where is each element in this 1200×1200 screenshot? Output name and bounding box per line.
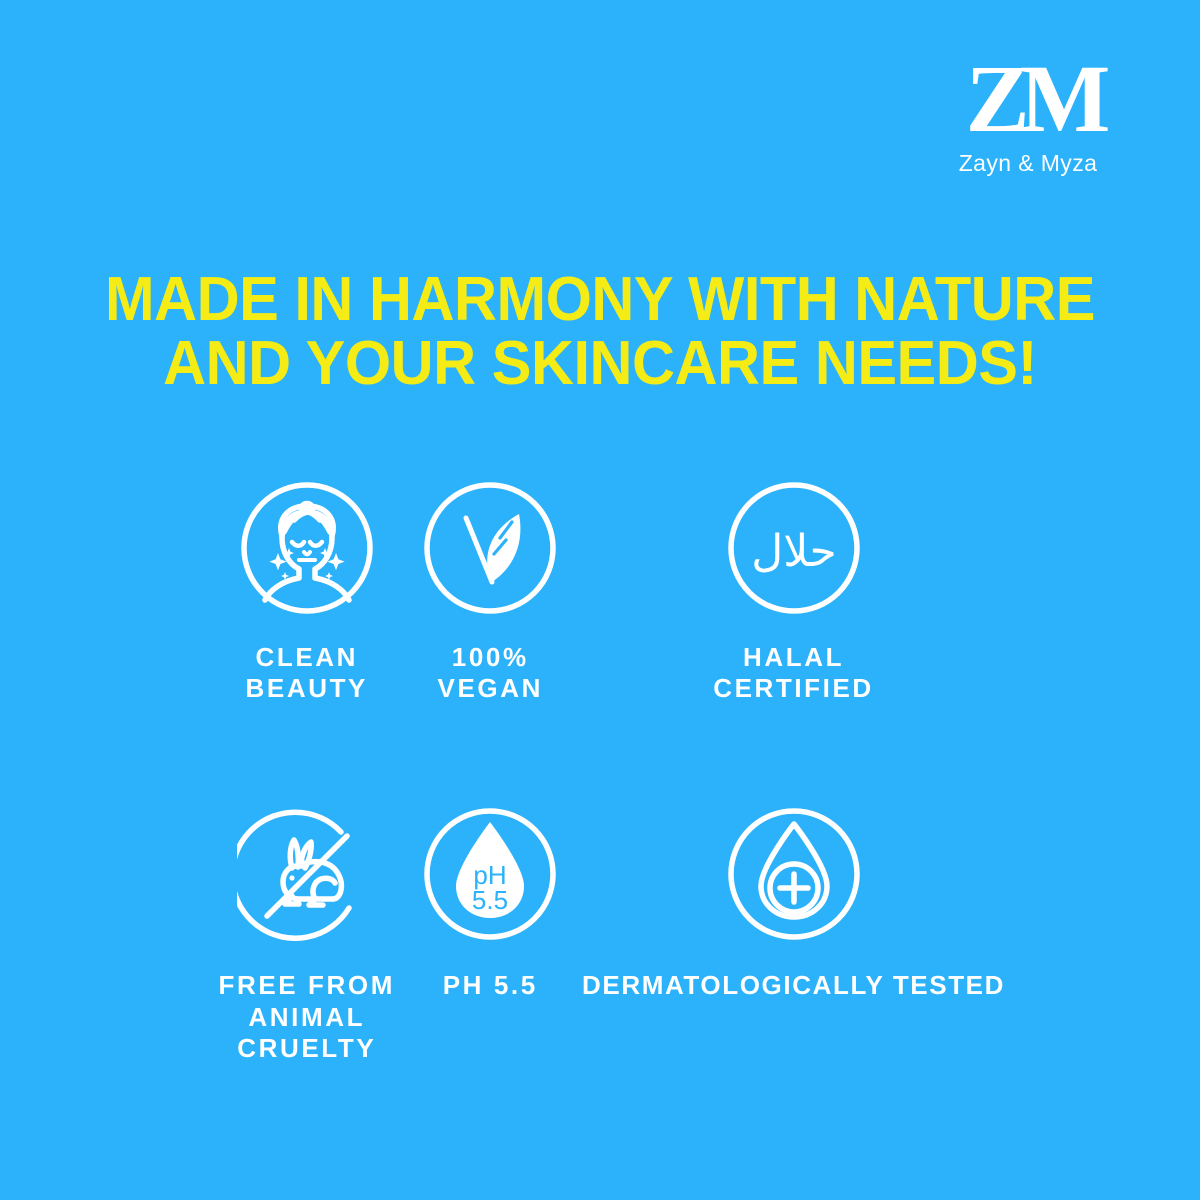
logo-monogram: ZM [918, 52, 1148, 146]
badge-label: PH 5.5 [443, 970, 538, 1001]
badge-label: CLEAN BEAUTY [246, 642, 369, 704]
badge-dermatologically-tested: DERMATOLOGICALLY TESTED [582, 804, 1005, 1064]
badge-ph: pH 5.5 PH 5.5 [399, 804, 583, 1064]
brand-logo: ZM Zayn & Myza [918, 52, 1138, 177]
dermatologically-tested-droplet-plus-icon [724, 804, 864, 944]
badge-halal: حلال HALAL CERTIFIED [582, 478, 1005, 704]
badge-label: FREE FROM ANIMAL CRUELTY [218, 970, 395, 1064]
face-towel-sparkle-icon [237, 478, 377, 618]
headline-line-2: AND YOUR SKINCARE NEEDS! [24, 332, 1176, 396]
badge-grid: CLEAN BEAUTY 100% VEGAN حلال [215, 478, 1005, 1064]
halal-arabic-icon: حلال [724, 478, 864, 618]
badge-label: HALAL CERTIFIED [713, 642, 874, 704]
svg-text:حلال: حلال [751, 526, 836, 577]
logo-wordmark: Zayn & Myza [918, 150, 1138, 177]
ph-label-value: 5.5 [472, 885, 508, 915]
badge-cruelty-free: FREE FROM ANIMAL CRUELTY [215, 804, 399, 1064]
badge-label: DERMATOLOGICALLY TESTED [582, 970, 1005, 1001]
badge-vegan: 100% VEGAN [399, 478, 583, 704]
vegan-leaf-icon [420, 478, 560, 618]
headline-line-1: MADE IN HARMONY WITH NATURE [24, 268, 1176, 332]
badge-label: 100% VEGAN [438, 642, 543, 704]
ph-droplet-icon: pH 5.5 [420, 804, 560, 944]
promo-graphic: ZM Zayn & Myza MADE IN HARMONY WITH NATU… [0, 0, 1200, 1200]
headline: MADE IN HARMONY WITH NATURE AND YOUR SKI… [24, 268, 1176, 397]
no-animal-cruelty-rabbit-icon [237, 804, 377, 944]
badge-clean-beauty: CLEAN BEAUTY [215, 478, 399, 704]
